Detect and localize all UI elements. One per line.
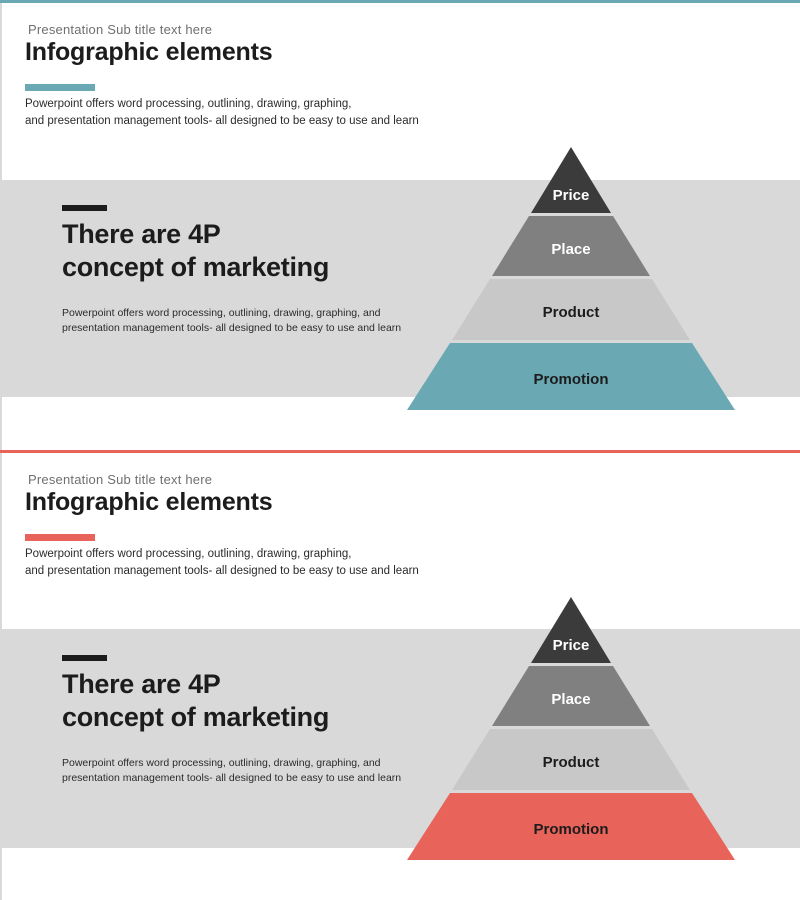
header-subtitle: Presentation Sub title text here: [28, 22, 545, 37]
header-accent-bar: [25, 84, 95, 91]
header-intro-text: Powerpoint offers word processing, outli…: [25, 96, 625, 130]
copy-accent-mark: [62, 205, 107, 211]
intro-line-2: and presentation management tools- all d…: [25, 113, 625, 130]
pyramid-label-price: Price: [553, 187, 590, 204]
copy-body: Powerpoint offers word processing, outli…: [62, 306, 462, 336]
copy-heading-line-2: concept of marketing: [62, 251, 462, 284]
pyramid-label-place: Place: [551, 241, 590, 258]
copy-block: There are 4P concept of marketing Powerp…: [62, 205, 462, 336]
intro-line-1: Powerpoint offers word processing, outli…: [25, 546, 625, 563]
copy-heading-line-2: concept of marketing: [62, 701, 462, 734]
pyramid-label-promotion: Promotion: [534, 821, 609, 838]
pyramid-label-product: Product: [543, 754, 600, 771]
header-block: Presentation Sub title text here Infogra…: [25, 22, 545, 67]
pyramid-label-promotion: Promotion: [534, 371, 609, 388]
intro-line-2: and presentation management tools- all d…: [25, 563, 625, 580]
panel-top-accent-rule: [0, 450, 800, 453]
panel-top-accent-rule: [0, 0, 800, 3]
intro-line-1: Powerpoint offers word processing, outli…: [25, 96, 625, 113]
copy-block: There are 4P concept of marketing Powerp…: [62, 655, 462, 786]
copy-body-line-1: Powerpoint offers word processing, outli…: [62, 756, 462, 771]
header-subtitle: Presentation Sub title text here: [28, 472, 545, 487]
copy-heading: There are 4P concept of marketing: [62, 668, 462, 734]
page-title: Infographic elements: [25, 38, 545, 67]
copy-body-line-2: presentation management tools- all desig…: [62, 771, 462, 786]
pyramid-label-price: Price: [553, 637, 590, 654]
copy-body: Powerpoint offers word processing, outli…: [62, 756, 462, 786]
copy-heading: There are 4P concept of marketing: [62, 218, 462, 284]
copy-body-line-2: presentation management tools- all desig…: [62, 321, 462, 336]
panel-coral: Presentation Sub title text here Infogra…: [0, 450, 800, 900]
slide-page: Presentation Sub title text here Infogra…: [0, 0, 800, 900]
pyramid-chart: Price Place Product Promotion: [405, 143, 745, 415]
pyramid-label-product: Product: [543, 304, 600, 321]
page-title: Infographic elements: [25, 488, 545, 517]
header-block: Presentation Sub title text here Infogra…: [25, 472, 545, 517]
copy-accent-mark: [62, 655, 107, 661]
header-intro-text: Powerpoint offers word processing, outli…: [25, 546, 625, 580]
copy-heading-line-1: There are 4P: [62, 218, 462, 251]
copy-body-line-1: Powerpoint offers word processing, outli…: [62, 306, 462, 321]
pyramid-chart: Price Place Product Promotion: [405, 593, 745, 865]
copy-heading-line-1: There are 4P: [62, 668, 462, 701]
header-accent-bar: [25, 534, 95, 541]
panel-teal: Presentation Sub title text here Infogra…: [0, 0, 800, 450]
pyramid-label-place: Place: [551, 691, 590, 708]
